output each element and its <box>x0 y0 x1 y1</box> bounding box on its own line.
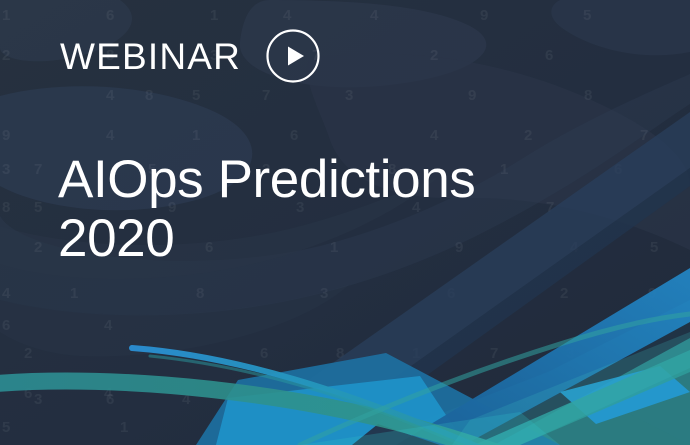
banner-content: WEBINAR AIOps Predictions 2020 <box>0 0 690 445</box>
eyebrow-label: WEBINAR <box>60 38 241 75</box>
webinar-banner: 1614495283726485739894164273752816859347… <box>0 0 690 445</box>
headline-line-1: AIOps Predictions <box>58 150 658 209</box>
page-title: AIOps Predictions 2020 <box>58 150 658 269</box>
eyebrow-row: WEBINAR <box>60 28 321 84</box>
headline-line-2: 2020 <box>58 209 658 268</box>
play-circle-icon[interactable] <box>265 28 321 84</box>
